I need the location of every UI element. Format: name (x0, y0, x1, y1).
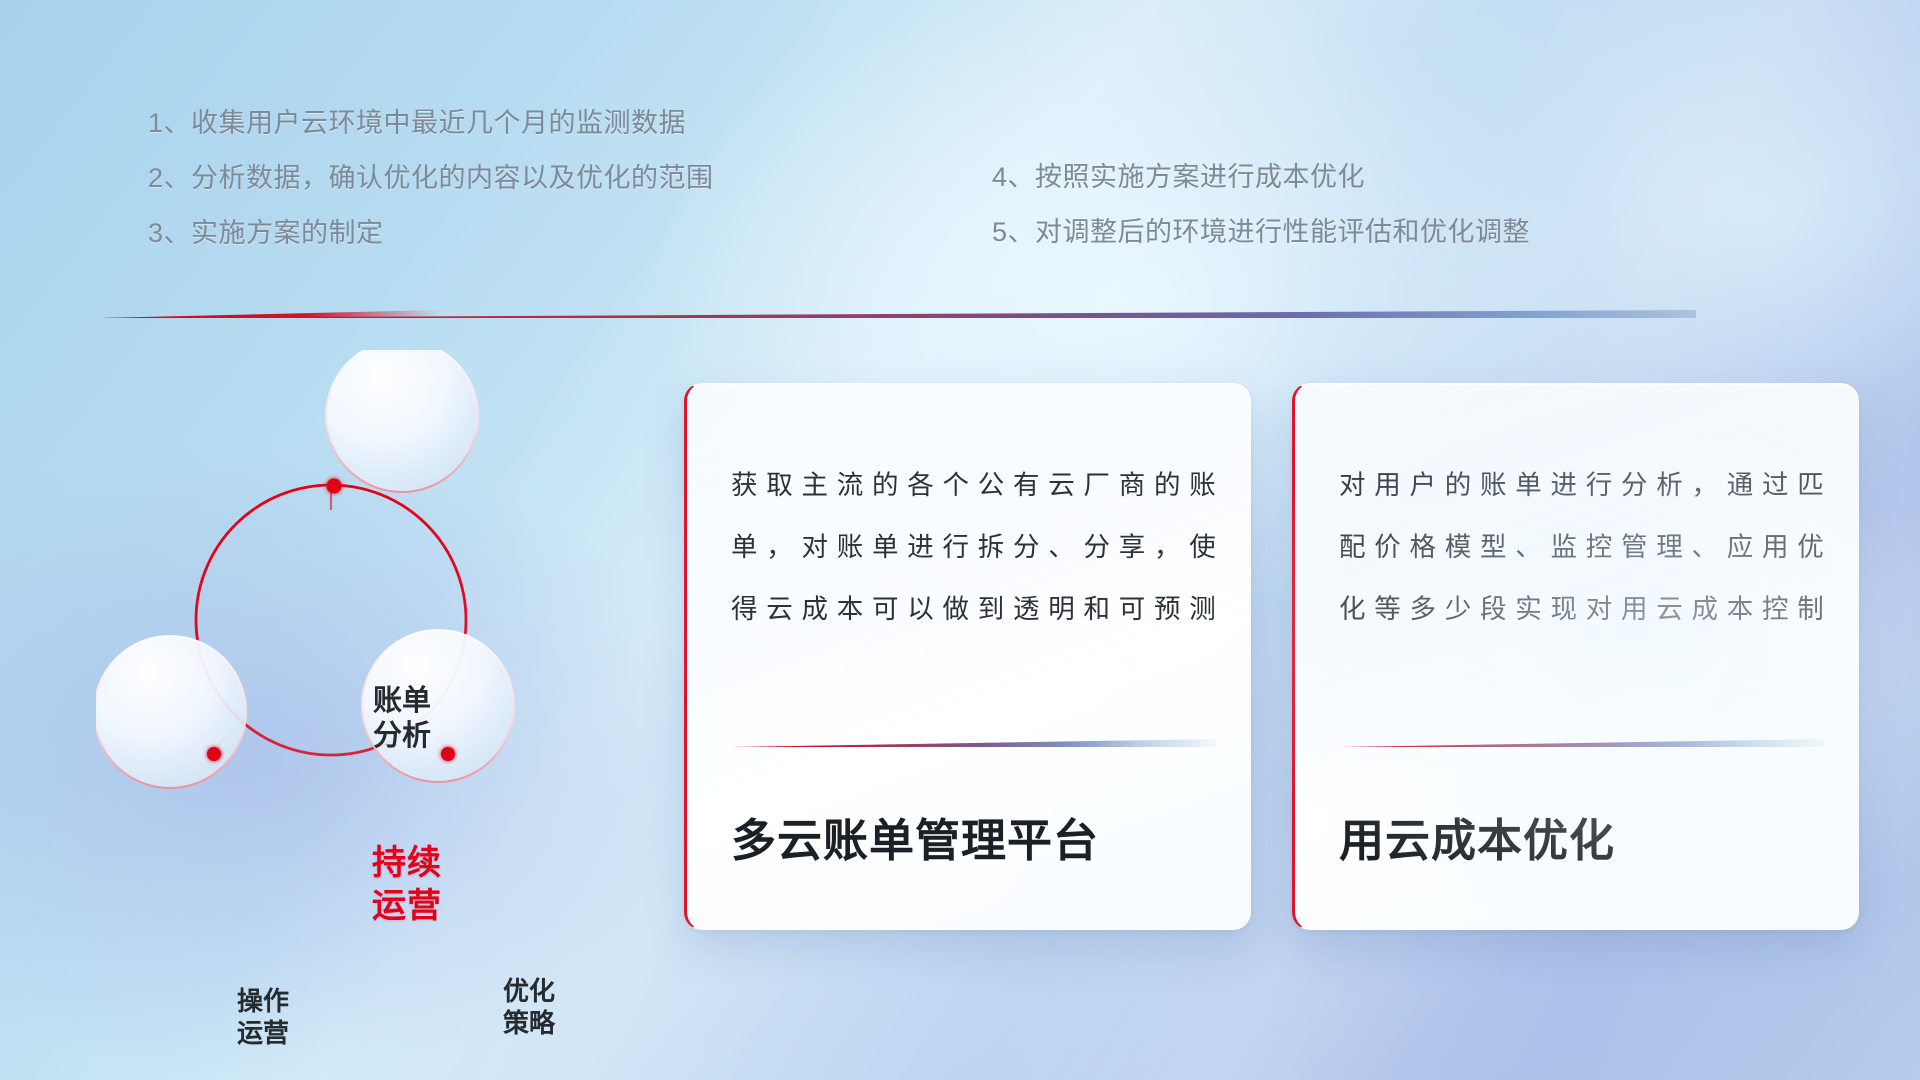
bubble-label-operation-ops: 操作 运营 (192, 986, 334, 1049)
junction-dot-top (327, 479, 342, 494)
junction-dot-left (207, 747, 221, 761)
section-divider-rule (100, 310, 1696, 319)
steps-list-right: 4、按照实施方案进行成本优化 5、对调整后的环境进行性能评估和优化调整 (992, 150, 1712, 260)
step-item-3: 3、实施方案的制定 (148, 206, 848, 261)
step-item-1: 1、收集用户云环境中最近几个月的监测数据 (148, 96, 848, 151)
card-body-line-1: 对用户的账单进行分析，通过匹 (1339, 454, 1824, 516)
card-divider (731, 739, 1217, 748)
bubble-label-optimize-policy: 优化 策略 (458, 976, 600, 1039)
card-title: 多云账单管理平台 (731, 814, 1216, 868)
card-body: 对用户的账单进行分析，通过匹 配价格模型、监控管理、应用优 化等多少段实现对用云… (1339, 454, 1824, 640)
card-body-line-2: 配价格模型、监控管理、应用优 (1339, 516, 1824, 578)
diagram-center-label: 持续 运营 (322, 842, 492, 928)
bubble-label-line-1: 优化 (458, 976, 600, 1008)
rule-red-accent (100, 310, 440, 318)
card-body-line-2: 单，对账单进行拆分、分享，使 (731, 516, 1216, 578)
slide-canvas: 1、收集用户云环境中最近几个月的监测数据 2、分析数据，确认优化的内容以及优化的… (0, 0, 1920, 1080)
steps-list-left: 1、收集用户云环境中最近几个月的监测数据 2、分析数据，确认优化的内容以及优化的… (148, 96, 848, 261)
bubble-label-line-1: 操作 (192, 986, 334, 1018)
bubble-label-line-2: 运营 (192, 1018, 334, 1050)
bubble-label-line-2: 分析 (332, 719, 472, 754)
center-label-line-2: 运营 (322, 885, 492, 928)
feature-card-multi-cloud-billing-platform[interactable]: 获取主流的各个公有云厂商的账 单，对账单进行拆分、分享，使 得云成本可以做到透明… (684, 383, 1251, 930)
card-body-line-1: 获取主流的各个公有云厂商的账 (731, 454, 1216, 516)
step-item-2: 2、分析数据，确认优化的内容以及优化的范围 (148, 151, 848, 206)
card-body-line-3: 得云成本可以做到透明和可预测 (731, 578, 1216, 640)
card-body-line-3: 化等多少段实现对用云成本控制 (1339, 578, 1824, 640)
step-item-5: 5、对调整后的环境进行性能评估和优化调整 (992, 205, 1712, 260)
bubble-label-line-1: 账单 (332, 684, 472, 719)
card-divider (1339, 739, 1825, 748)
bubble-label-line-2: 策略 (458, 1008, 600, 1040)
feature-card-cloud-cost-optimization[interactable]: 对用户的账单进行分析，通过匹 配价格模型、监控管理、应用优 化等多少段实现对用云… (1292, 383, 1859, 930)
card-title: 用云成本优化 (1339, 814, 1824, 868)
center-label-line-1: 持续 (322, 842, 492, 885)
bubble-label-billing-analysis: 账单 分析 (332, 684, 472, 755)
card-divider-gradient (731, 739, 1217, 747)
continuous-operation-diagram: 账单 分析 操作 运营 优化 策略 持续 运营 (96, 350, 566, 850)
card-body: 获取主流的各个公有云厂商的账 单，对账单进行拆分、分享，使 得云成本可以做到透明… (731, 454, 1216, 640)
bubble-billing-analysis (326, 350, 478, 492)
step-item-4: 4、按照实施方案进行成本优化 (992, 150, 1712, 205)
bubble-operation-ops (96, 636, 246, 788)
card-divider-gradient (1339, 739, 1825, 747)
